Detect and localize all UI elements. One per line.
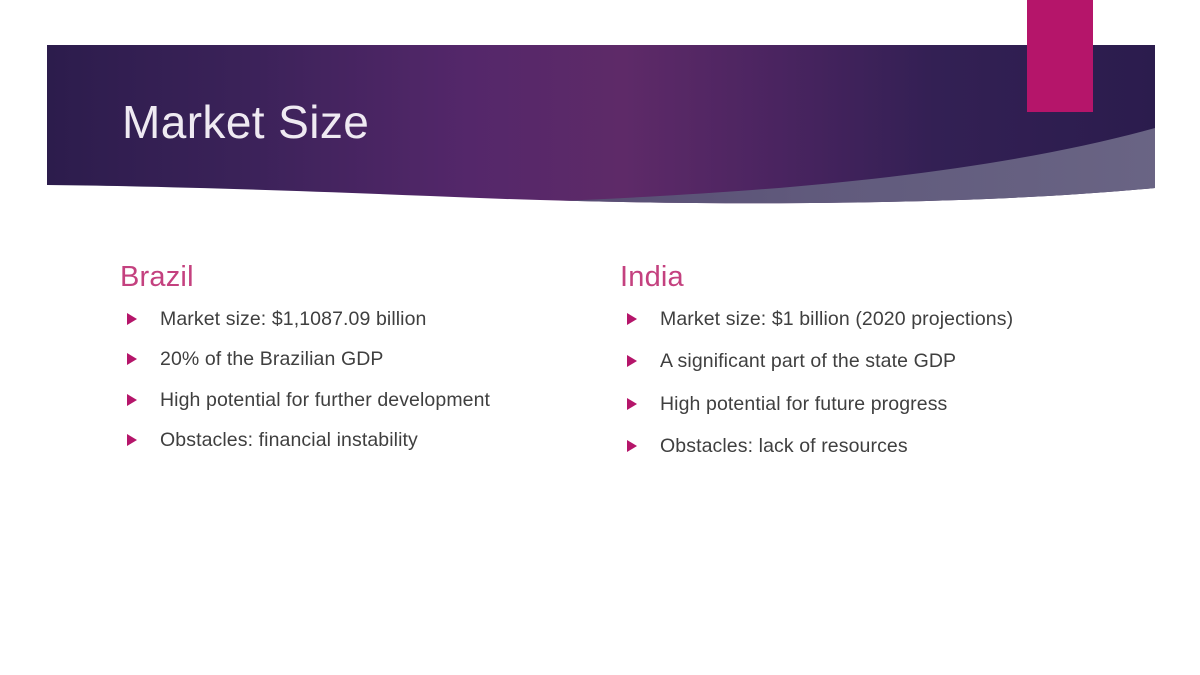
list-item-label: Market size: $1 billion (2020 projection… [660,308,1013,330]
list-item-label: Obstacles: financial instability [160,429,418,451]
list-item-label: A significant part of the state GDP [660,350,956,372]
list-item: Market size: $1 billion (2020 projection… [620,306,1050,332]
list-item: 20% of the Brazilian GDP [120,346,620,372]
triangle-bullet-icon [127,353,137,365]
triangle-bullet-icon [627,313,637,325]
triangle-bullet-icon [627,440,637,452]
column-heading-brazil: Brazil [120,262,620,294]
list-item: A significant part of the state GDP [620,348,1050,374]
triangle-bullet-icon [127,313,137,325]
triangle-bullet-icon [127,434,137,446]
list-item-label: High potential for further development [160,389,490,411]
list-item: Obstacles: financial instability [120,427,620,453]
bullet-list-brazil: Market size: $1,1087.09 billion 20% of t… [120,306,620,453]
list-item: Obstacles: lack of resources [620,433,1050,459]
content-area: Brazil Market size: $1,1087.09 billion 2… [0,262,1200,475]
triangle-bullet-icon [627,398,637,410]
slide-canvas: Market Size Brazil Market size: $1,1087.… [0,0,1200,675]
column-india: India Market size: $1 billion (2020 proj… [620,262,1050,475]
column-brazil: Brazil Market size: $1,1087.09 billion 2… [120,262,620,475]
triangle-bullet-icon [127,394,137,406]
column-heading-india: India [620,262,1050,294]
list-item: High potential for further development [120,387,620,413]
list-item-label: Market size: $1,1087.09 billion [160,308,427,330]
list-item-label: High potential for future progress [660,393,947,415]
list-item: Market size: $1,1087.09 billion [120,306,620,332]
list-item-label: Obstacles: lack of resources [660,435,908,457]
list-item-label: 20% of the Brazilian GDP [160,348,384,370]
triangle-bullet-icon [627,355,637,367]
list-item: High potential for future progress [620,391,1050,417]
page-title: Market Size [122,99,369,145]
bullet-list-india: Market size: $1 billion (2020 projection… [620,306,1050,459]
pink-accent-bar [1027,0,1093,112]
